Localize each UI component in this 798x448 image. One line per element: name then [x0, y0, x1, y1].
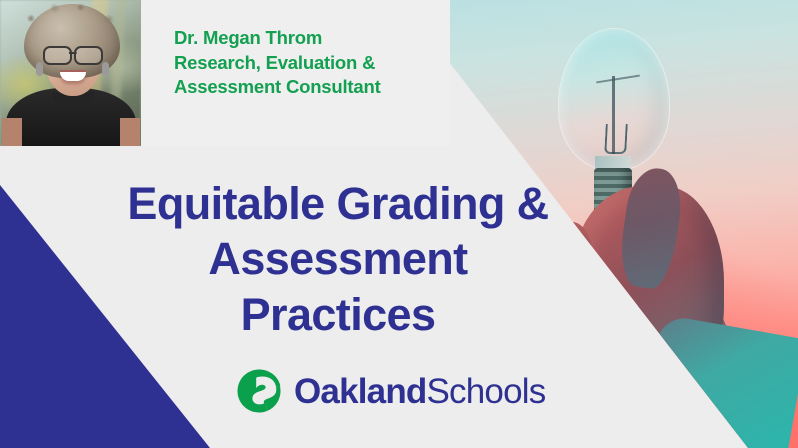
- headshot-arm: [2, 118, 22, 146]
- wordmark-oakland: Oakland: [294, 372, 427, 411]
- glasses-lens: [74, 46, 103, 65]
- oakland-schools-wordmark: OaklandSchools: [294, 374, 545, 409]
- teal-sleeve: [641, 314, 798, 448]
- title-line-1: Equitable Grading &: [60, 176, 616, 231]
- presenter-headshot: [0, 0, 141, 146]
- presenter-credentials: Dr. Megan Throm Research, Evaluation & A…: [174, 26, 442, 100]
- title-line-2: Assessment: [60, 231, 616, 286]
- headshot-earring: [36, 62, 43, 76]
- headshot-earring: [102, 62, 109, 76]
- presenter-header-band: Dr. Megan Throm Research, Evaluation & A…: [0, 0, 450, 146]
- oakland-schools-mark-icon: [236, 368, 282, 414]
- headshot-arm: [120, 118, 140, 146]
- lightbulb-filament-coil: [604, 124, 628, 154]
- presenter-role-line-1: Research, Evaluation &: [174, 51, 442, 76]
- glasses-lens: [43, 46, 72, 65]
- wordmark-schools: Schools: [427, 372, 546, 411]
- title-line-3: Practices: [60, 287, 616, 342]
- presentation-slide: Dr. Megan Throm Research, Evaluation & A…: [0, 0, 798, 448]
- presenter-name: Dr. Megan Throm: [174, 26, 442, 51]
- presenter-role-line-2: Assessment Consultant: [174, 75, 442, 100]
- oakland-schools-logo: OaklandSchools: [236, 368, 545, 414]
- headshot-glasses: [42, 46, 104, 61]
- page-title: Equitable Grading & Assessment Practices: [60, 176, 616, 342]
